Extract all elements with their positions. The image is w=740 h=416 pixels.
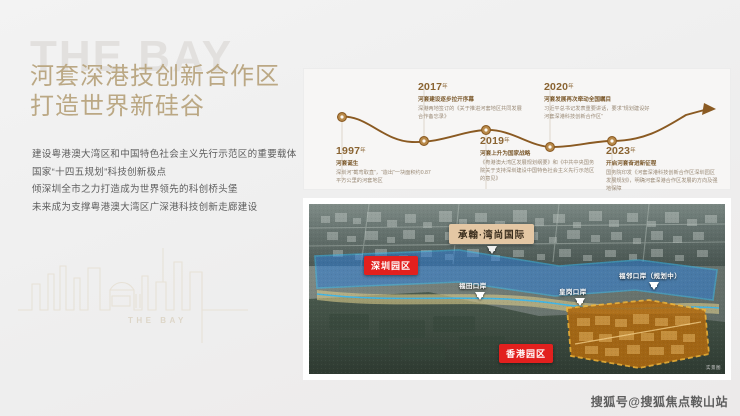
timeline-year-2023: 2023年 bbox=[606, 145, 720, 157]
port-arrow-futian-icon bbox=[475, 292, 485, 300]
slide-root: THE BAY 河套深港技创新合作区 打造世界新硅谷 建设粤港澳大湾区和中国特色… bbox=[0, 0, 740, 416]
timeline-entry-1997[interactable]: 1997年 河套诞生 深圳河“截弯取直”，“造出”一块面积约0.87平方公里的河… bbox=[336, 145, 432, 185]
timeline-desc-2023: 国务院印发《河套深港科技创新合作区深圳园区发展规划》，明确河套深港合作区发展的方… bbox=[606, 169, 720, 193]
project-pointer-arrow-icon bbox=[487, 246, 497, 254]
timeline-desc-2017: 深港两地签订的《关于推进河套地区共同发展合作备忘录》 bbox=[418, 105, 522, 121]
timeline-headline-2020: 河套发展再次牵动全国瞩目 bbox=[544, 96, 652, 104]
page-title-line-2: 打造世界新硅谷 bbox=[30, 92, 280, 122]
port-arrow-huanggang-icon bbox=[575, 298, 585, 306]
left-panel: THE BAY 河套深港技创新合作区 打造世界新硅谷 建设粤港澳大湾区和中国特色… bbox=[0, 0, 300, 416]
port-label-huanggang: 皇岗口岸 bbox=[559, 286, 587, 296]
port-arrow-fulin-icon bbox=[649, 282, 659, 290]
timeline-entry-2017[interactable]: 2017年 河套建设逐步拉开序幕 深港两地签订的《关于推进河套地区共同发展合作备… bbox=[418, 81, 522, 121]
description-line-2: 国家“十四五规划”科技创新极点 bbox=[32, 164, 297, 182]
aerial-map[interactable]: 承翰·湾尚国际 深圳园区 香港园区 福田口岸 皇岗口岸 福邻口岸（规划中） 实景… bbox=[309, 204, 725, 374]
timeline-desc-2019: 《粤港澳大湾区发展规划纲要》和《中共中央国务院关于支持深圳建设中国特色社会主义先… bbox=[480, 159, 596, 183]
skyline-illustration bbox=[18, 248, 248, 358]
timeline-year-2019: 2019年 bbox=[480, 135, 596, 147]
timeline-headline-2019: 河套上升为国家战略 bbox=[480, 150, 596, 158]
timeline-year-2020: 2020年 bbox=[544, 81, 652, 93]
skyline-caption: THE BAY bbox=[128, 316, 187, 325]
zone-badge-hongkong[interactable]: 香港园区 bbox=[499, 344, 553, 363]
map-card: 承翰·湾尚国际 深圳园区 香港园区 福田口岸 皇岗口岸 福邻口岸（规划中） 实景… bbox=[303, 198, 731, 380]
timeline-year-2017: 2017年 bbox=[418, 81, 522, 93]
timeline-headline-2017: 河套建设逐步拉开序幕 bbox=[418, 96, 522, 104]
timeline-year-1997: 1997年 bbox=[336, 145, 432, 157]
description-line-4: 未来成为支撑粤港澳大湾区广深港科技创新走廊建设 bbox=[32, 199, 297, 217]
timeline-entry-2023[interactable]: 2023年 开启河套奋进新征程 国务院印发《河套深港科技创新合作区深圳园区发展规… bbox=[606, 145, 720, 193]
page-title: 河套深港技创新合作区 打造世界新硅谷 bbox=[30, 62, 280, 122]
timeline-headline-2023: 开启河套奋进新征程 bbox=[606, 160, 720, 168]
port-label-futian: 福田口岸 bbox=[459, 280, 487, 290]
description-line-1: 建设粤港澳大湾区和中国特色社会主义先行示范区的重要载体 bbox=[32, 146, 297, 164]
port-label-fulin: 福邻口岸（规划中） bbox=[619, 270, 681, 280]
timeline-entry-2019[interactable]: 2019年 河套上升为国家战略 《粤港澳大湾区发展规划纲要》和《中共中央国务院关… bbox=[480, 135, 596, 183]
project-badge[interactable]: 承翰·湾尚国际 bbox=[449, 224, 534, 244]
description-block: 建设粤港澳大湾区和中国特色社会主义先行示范区的重要载体 国家“十四五规划”科技创… bbox=[32, 146, 297, 216]
description-line-3: 倾深圳全市之力打造成为世界领先的科创桥头堡 bbox=[32, 181, 297, 199]
timeline-desc-1997: 深圳河“截弯取直”，“造出”一块面积约0.87平方公里的河套地区 bbox=[336, 169, 432, 185]
timeline-entry-2020[interactable]: 2020年 河套发展再次牵动全国瞩目 习近平总书记发表重要讲话，要求“规划建设好… bbox=[544, 81, 652, 121]
timeline-desc-2020: 习近平总书记发表重要讲话，要求“规划建设好河套深港科技创新合作区” bbox=[544, 105, 652, 121]
timeline-card: 1997年 河套诞生 深圳河“截弯取直”，“造出”一块面积约0.87平方公里的河… bbox=[303, 68, 731, 190]
source-watermark: 搜狐号@搜狐焦点鞍山站 bbox=[591, 393, 728, 410]
map-credit: 实景图 bbox=[706, 365, 721, 371]
timeline-headline-1997: 河套诞生 bbox=[336, 160, 432, 168]
zone-badge-shenzhen[interactable]: 深圳园区 bbox=[364, 256, 418, 275]
page-title-line-1: 河套深港技创新合作区 bbox=[30, 62, 280, 92]
